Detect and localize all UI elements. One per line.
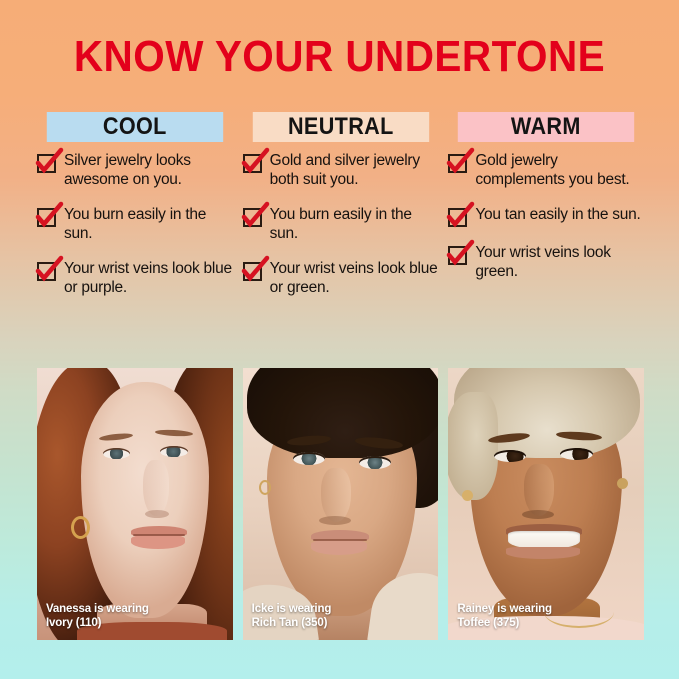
column-neutral: NEUTRAL Gold and silver jewelry both sui…	[243, 112, 439, 313]
list-item[interactable]: You tan easily in the sun.	[448, 205, 644, 227]
checklist-cool: Silver jewelry looks awesome on you. You…	[37, 151, 233, 297]
checkbox-icon[interactable]	[37, 262, 56, 281]
list-item[interactable]: Your wrist veins look green.	[448, 243, 644, 281]
hair	[247, 368, 439, 458]
undertone-infographic: KNOW YOUR UNDERTONE COOL Silver jewelry …	[0, 0, 679, 679]
page-title: KNOW YOUR UNDERTONE	[27, 31, 652, 83]
checkbox-icon[interactable]	[448, 246, 467, 265]
column-cool: COOL Silver jewelry looks awesome on you…	[37, 112, 233, 313]
caption-line-2: Toffee (375)	[457, 617, 552, 631]
checkmark-icon	[241, 202, 269, 230]
checkbox-icon[interactable]	[243, 154, 262, 173]
caption-line-2: Ivory (110)	[46, 617, 149, 631]
column-header-warm: WARM	[458, 112, 634, 142]
checkbox-icon[interactable]	[243, 208, 262, 227]
list-item-label: Gold and silver jewelry both suit you.	[270, 151, 439, 189]
list-item-label: Silver jewelry looks awesome on you.	[64, 151, 233, 189]
photo-caption: Vanessa is wearing Ivory (110)	[46, 603, 149, 630]
checkmark-icon	[35, 202, 63, 230]
hair-side	[448, 392, 498, 500]
earring	[71, 516, 90, 539]
checkmark-icon	[35, 256, 63, 284]
lower-lip	[311, 540, 367, 555]
checkmark-icon	[446, 202, 474, 230]
nose	[321, 468, 351, 522]
column-header-cool: COOL	[47, 112, 223, 142]
caption-line-2: Rich Tan (350)	[252, 617, 332, 631]
list-item-label: Your wrist veins look blue or green.	[270, 259, 439, 297]
eye-left	[103, 448, 130, 459]
list-item-label: Your wrist veins look green.	[475, 243, 644, 281]
column-header-neutral: NEUTRAL	[252, 112, 428, 142]
necklace-chain	[544, 596, 614, 628]
list-item-label: You burn easily in the sun.	[64, 205, 233, 243]
nose	[143, 460, 169, 516]
checkbox-icon[interactable]	[37, 208, 56, 227]
caption-line-1: Vanessa is wearing	[46, 603, 149, 617]
model-photo-vanessa: Vanessa is wearing Ivory (110)	[37, 368, 233, 640]
checkmark-icon	[241, 256, 269, 284]
model-photo-rainey: Rainey is wearing Toffee (375)	[448, 368, 644, 640]
photo-caption: Icke is wearing Rich Tan (350)	[252, 603, 332, 630]
list-item-label: You tan easily in the sun.	[475, 205, 640, 224]
eye-right	[160, 446, 188, 457]
nostrils	[145, 510, 169, 518]
list-item[interactable]: Gold and silver jewelry both suit you.	[243, 151, 439, 189]
checkbox-icon[interactable]	[243, 262, 262, 281]
checkbox-icon[interactable]	[448, 208, 467, 227]
list-item[interactable]: Your wrist veins look blue or green.	[243, 259, 439, 297]
checkmark-icon	[35, 148, 63, 176]
list-item[interactable]: You burn easily in the sun.	[243, 205, 439, 243]
list-item-label: Your wrist veins look blue or purple.	[64, 259, 233, 297]
checkmark-icon	[446, 240, 474, 268]
caption-line-1: Rainey is wearing	[457, 603, 552, 617]
checkbox-icon[interactable]	[37, 154, 56, 173]
model-photos: Vanessa is wearing Ivory (110) Icke is w…	[37, 368, 644, 640]
nostrils	[319, 516, 351, 525]
list-item-label: Gold jewelry complements you best.	[475, 151, 644, 189]
list-item[interactable]: Silver jewelry looks awesome on you.	[37, 151, 233, 189]
checklist-warm: Gold jewelry complements you best. You t…	[448, 151, 644, 281]
model-photo-icke: Icke is wearing Rich Tan (350)	[243, 368, 439, 640]
lower-lip	[131, 535, 185, 549]
mouth-line	[133, 534, 185, 536]
undertone-columns: COOL Silver jewelry looks awesome on you…	[37, 112, 644, 313]
photo-caption: Rainey is wearing Toffee (375)	[457, 603, 552, 630]
column-warm: WARM Gold jewelry complements you best. …	[448, 112, 644, 313]
earring-right	[617, 478, 628, 489]
eye-left	[293, 452, 325, 465]
checkmark-icon	[241, 148, 269, 176]
caption-line-1: Icke is wearing	[252, 603, 332, 617]
checkmark-icon	[446, 148, 474, 176]
checklist-neutral: Gold and silver jewelry both suit you. Y…	[243, 151, 439, 297]
list-item[interactable]: You burn easily in the sun.	[37, 205, 233, 243]
mouth-line	[313, 539, 367, 541]
eye-right	[359, 456, 391, 469]
list-item[interactable]: Gold jewelry complements you best.	[448, 151, 644, 189]
list-item[interactable]: Your wrist veins look blue or purple.	[37, 259, 233, 297]
list-item-label: You burn easily in the sun.	[270, 205, 439, 243]
lower-lip	[506, 547, 580, 559]
earring	[259, 480, 271, 495]
checkbox-icon[interactable]	[448, 154, 467, 173]
